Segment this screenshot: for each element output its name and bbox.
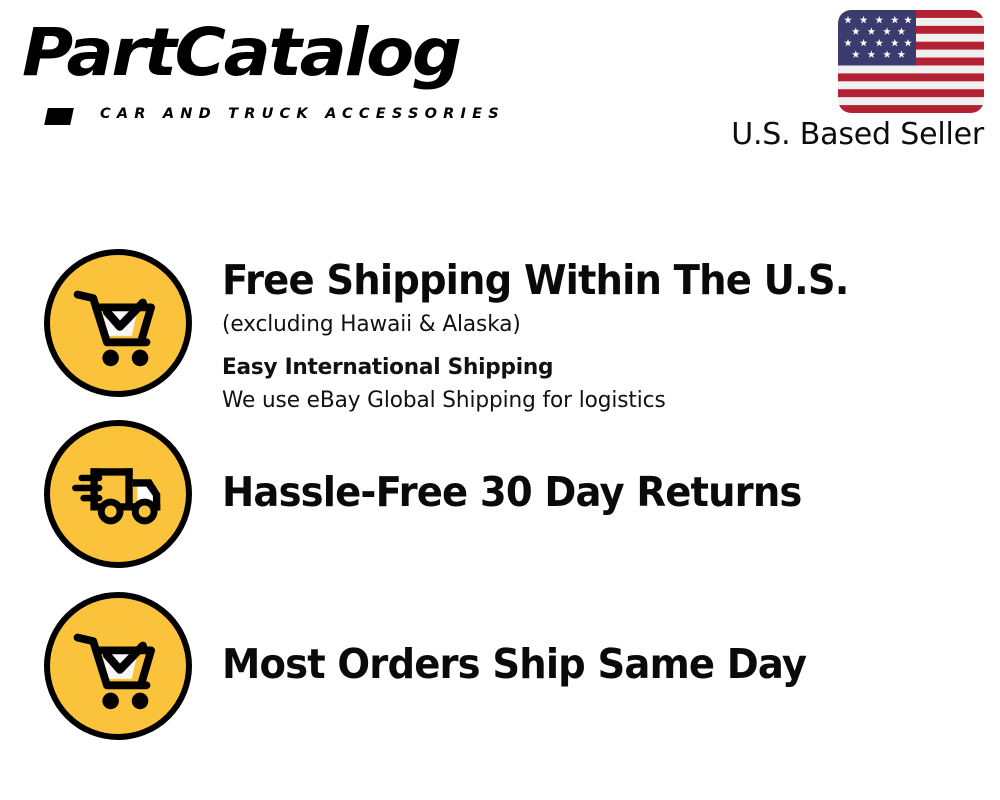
shopping-cart-check-icon: [44, 249, 192, 397]
brand-wordmark: PartCatalog: [22, 18, 460, 88]
brand-logo: PartCatalog CAR AND TRUCK ACCESSORIES: [22, 18, 492, 118]
feature-title: Most Orders Ship Same Day: [222, 640, 935, 688]
feature-subtext: We use eBay Global Shipping for logistic…: [222, 384, 950, 416]
feature-text-block: Free Shipping Within The U.S. (excluding…: [222, 256, 980, 416]
delivery-truck-icon: [44, 420, 192, 568]
feature-text-block: Hassle-Free 30 Day Returns: [222, 468, 980, 516]
feature-title: Hassle-Free 30 Day Returns: [222, 468, 935, 516]
us-flag-icon: [838, 10, 984, 113]
feature-row: Free Shipping Within The U.S. (excluding…: [0, 249, 1000, 414]
feature-row: Hassle-Free 30 Day Returns: [0, 420, 1000, 570]
brand-tagline: CAR AND TRUCK ACCESSORIES: [100, 106, 505, 122]
us-based-seller-label: U.S. Based Seller: [731, 117, 984, 153]
feature-subtext-bold: Easy International Shipping: [222, 351, 950, 383]
feature-row: Most Orders Ship Same Day: [0, 592, 1000, 742]
feature-subtext: (excluding Hawaii & Alaska): [222, 308, 950, 340]
feature-text-block: Most Orders Ship Same Day: [222, 640, 980, 688]
feature-title: Free Shipping Within The U.S.: [222, 256, 935, 304]
shopping-cart-check-icon: [44, 592, 192, 740]
brand-logo-dash: [44, 108, 74, 125]
page-header: PartCatalog CAR AND TRUCK ACCESSORIES: [0, 0, 1000, 170]
